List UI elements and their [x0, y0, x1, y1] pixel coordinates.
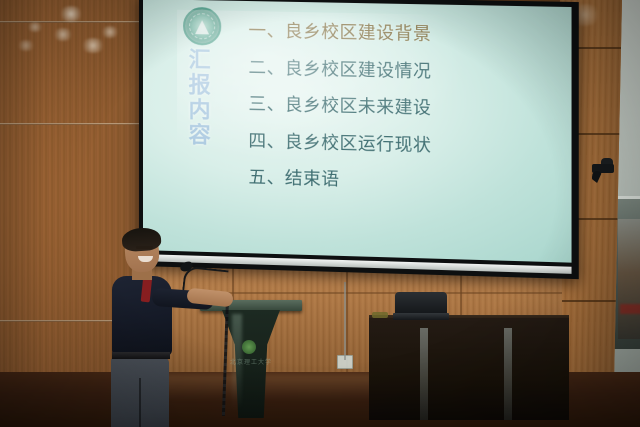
table-light-strip-right — [504, 328, 512, 420]
slide-bullet-list: 一、良乡校区建设背景 二、良乡校区建设情况 三、良乡校区未来建设 四、良乡校区运… — [248, 23, 561, 215]
wall-camera-icon — [592, 158, 618, 178]
vtitle-char-3: 容 — [189, 123, 212, 149]
door-opening — [618, 219, 640, 339]
slide-bullet-3: 三、良乡校区未来建设 — [248, 96, 561, 121]
slide-bullet-5: 五、结束语 — [248, 170, 561, 196]
vtitle-char-1: 报 — [189, 73, 212, 99]
presenter-leg-seam — [139, 378, 141, 427]
slide-bullet-2: 二、良乡校区建设情况 — [248, 60, 561, 84]
presenter-laptop — [393, 292, 449, 320]
slide-surface: 汇 报 内 容 一、良乡校区建设背景 二、良乡校区建设情况 三、良乡校区未来建设… — [143, 0, 572, 263]
presenter — [92, 228, 212, 427]
door-red-object — [620, 304, 640, 314]
av-console-table — [369, 318, 569, 420]
presenter-belt — [112, 352, 170, 359]
slide-vertical-title: 汇 报 内 容 — [178, 48, 222, 149]
slide-bullet-4: 四、良乡校区运行现状 — [248, 133, 561, 158]
university-emblem-icon — [183, 7, 221, 46]
lectern-engraved-text: 北京理工大学 — [226, 357, 276, 366]
glass-lectern: 北京理工大学 — [206, 300, 296, 418]
presenter-brow — [136, 246, 153, 249]
desk-small-object — [372, 312, 388, 318]
table-light-strip-left — [420, 328, 428, 420]
lectern-emblem-icon — [242, 340, 256, 354]
vtitle-char-2: 内 — [189, 98, 212, 124]
slide-bullet-1: 一、良乡校区建设背景 — [248, 23, 561, 47]
wall-cable — [344, 282, 346, 360]
vtitle-char-0: 汇 — [189, 48, 212, 74]
lecture-hall-photo: 汇 报 内 容 一、良乡校区建设背景 二、良乡校区建设情况 三、良乡校区未来建设… — [0, 0, 640, 427]
